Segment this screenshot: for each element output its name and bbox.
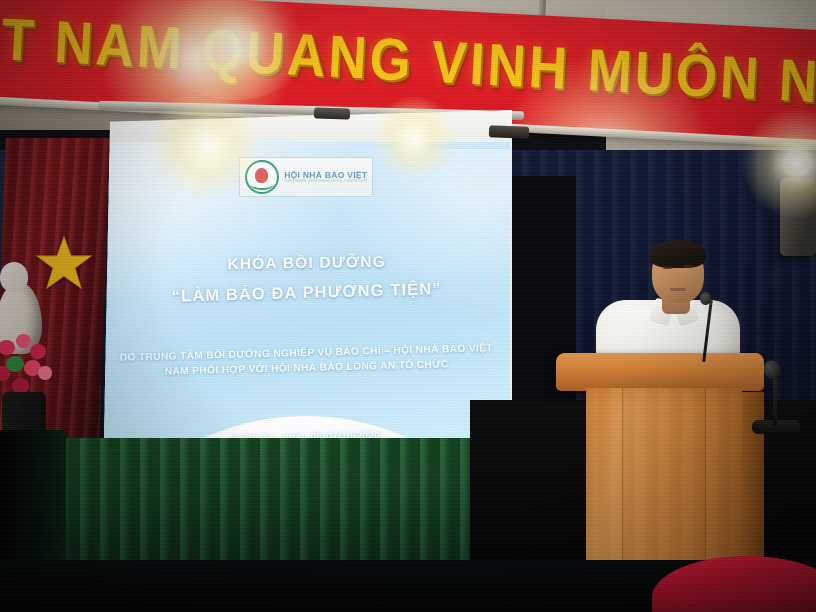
podium-top-ledge bbox=[556, 353, 764, 391]
slide-body-text: DO TRUNG TÂM BỒI DƯỠNG NGHIỆP VỤ BÁO CHÍ… bbox=[110, 342, 502, 382]
presenter-hair bbox=[650, 240, 706, 268]
vja-logo: HỘI NHÀ BÁO VIỆT NAM VIETNAM JOURNALISTS… bbox=[239, 157, 373, 197]
presenter-eye-right bbox=[684, 265, 693, 268]
bust-head bbox=[0, 262, 28, 292]
conference-photo: ỆT NAM QUANG VINH MUÔN NĂM bbox=[0, 0, 816, 612]
wall-speaker bbox=[780, 178, 816, 256]
stand-microphone-stem bbox=[773, 376, 777, 426]
ceiling-light-fixture-2 bbox=[489, 125, 529, 138]
presenter-mouth bbox=[670, 288, 686, 291]
presenter-eye-left bbox=[663, 266, 672, 269]
vja-logo-sub-text: VIETNAM JOURNALISTS ASSOCIATION bbox=[284, 179, 367, 184]
podium-microphone-icon bbox=[700, 292, 711, 305]
ceiling-light-fixture-1 bbox=[314, 107, 350, 119]
vja-logo-text: HỘI NHÀ BÁO VIỆT NAM VIETNAM JOURNALISTS… bbox=[284, 171, 367, 185]
vja-emblem-icon bbox=[245, 160, 279, 194]
